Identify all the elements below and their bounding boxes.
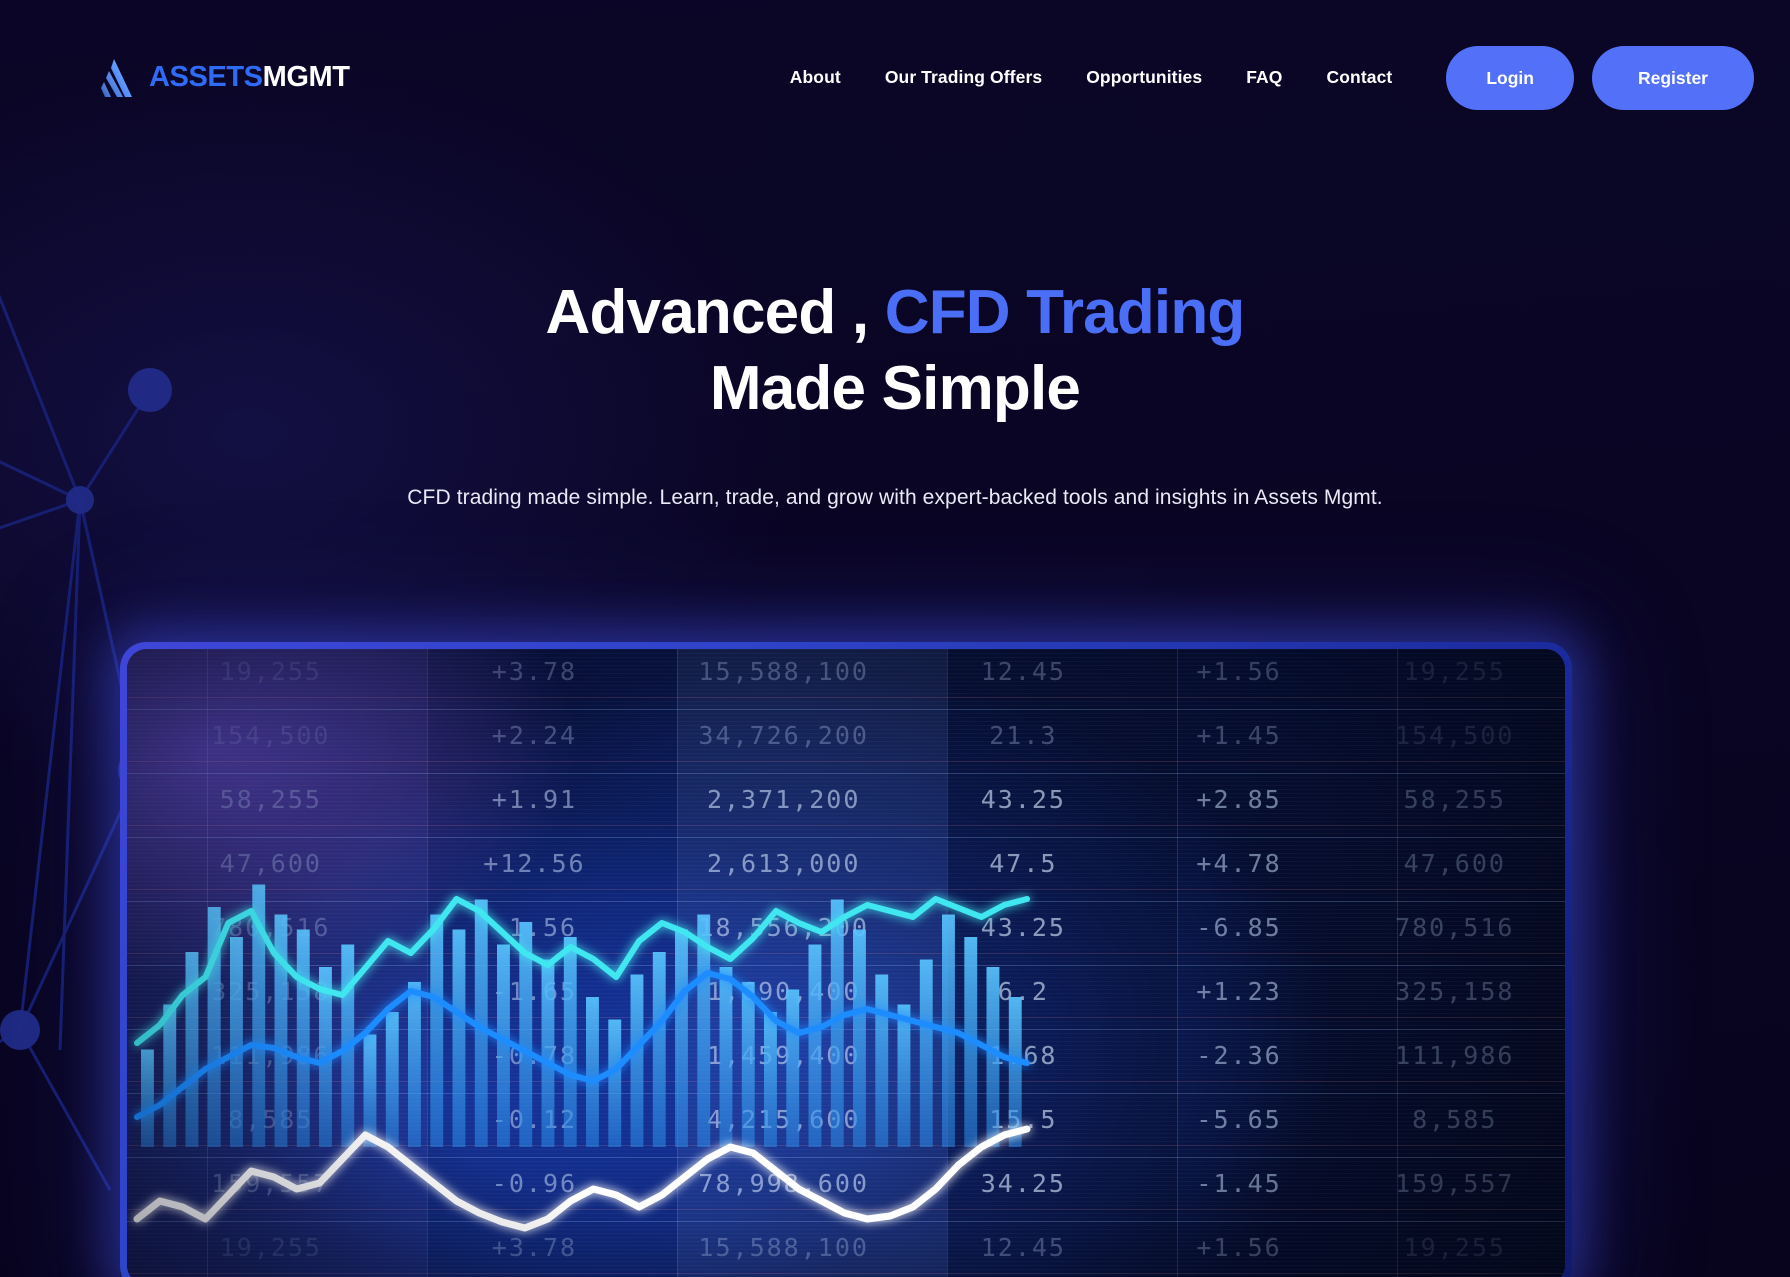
auth-actions: Login Register (1446, 46, 1754, 110)
login-button[interactable]: Login (1446, 46, 1574, 110)
hero-title-line2: Made Simple (710, 354, 1080, 423)
chart-line-white-line (137, 1129, 1027, 1228)
brand-logo[interactable]: ASSETSMGMT (96, 57, 350, 99)
page-title: Advanced , CFD Trading Made Simple (0, 275, 1790, 426)
trading-chart-screen: 19,255+3.7815,588,10012.45+1.5619,255154… (127, 649, 1565, 1277)
hero-subtitle: CFD trading made simple. Learn, trade, a… (0, 486, 1790, 510)
site-header: ASSETSMGMT About Our Trading Offers Oppo… (0, 0, 1790, 155)
chart-line-cyan-line (137, 899, 1027, 1043)
chart-graph-overlay (127, 649, 1565, 1277)
brand-name-secondary: MGMT (263, 61, 350, 93)
hero-section: Advanced , CFD Trading Made Simple CFD t… (0, 155, 1790, 510)
triangle-mountain-icon (96, 57, 140, 99)
nav-item-contact[interactable]: Contact (1327, 67, 1393, 88)
nav-item-opportunities[interactable]: Opportunities (1086, 67, 1202, 88)
nav-item-our-trading-offers[interactable]: Our Trading Offers (885, 67, 1042, 88)
nav-item-about[interactable]: About (790, 67, 841, 88)
hero-title-line1: Advanced , CFD Trading (546, 278, 1245, 347)
brand-name-primary: ASSETS (149, 61, 263, 93)
hero-title-plain: Advanced , (546, 278, 885, 347)
trading-chart-card: 19,255+3.7815,588,10012.45+1.5619,255154… (120, 642, 1572, 1277)
hero-title-accent: CFD Trading (885, 278, 1245, 347)
register-button[interactable]: Register (1592, 46, 1754, 110)
chart-line-blue-line (137, 973, 1027, 1117)
brand-wordmark: ASSETSMGMT (149, 63, 350, 92)
nav-item-faq[interactable]: FAQ (1246, 67, 1282, 88)
main-navigation: About Our Trading Offers Opportunities F… (790, 67, 1393, 88)
